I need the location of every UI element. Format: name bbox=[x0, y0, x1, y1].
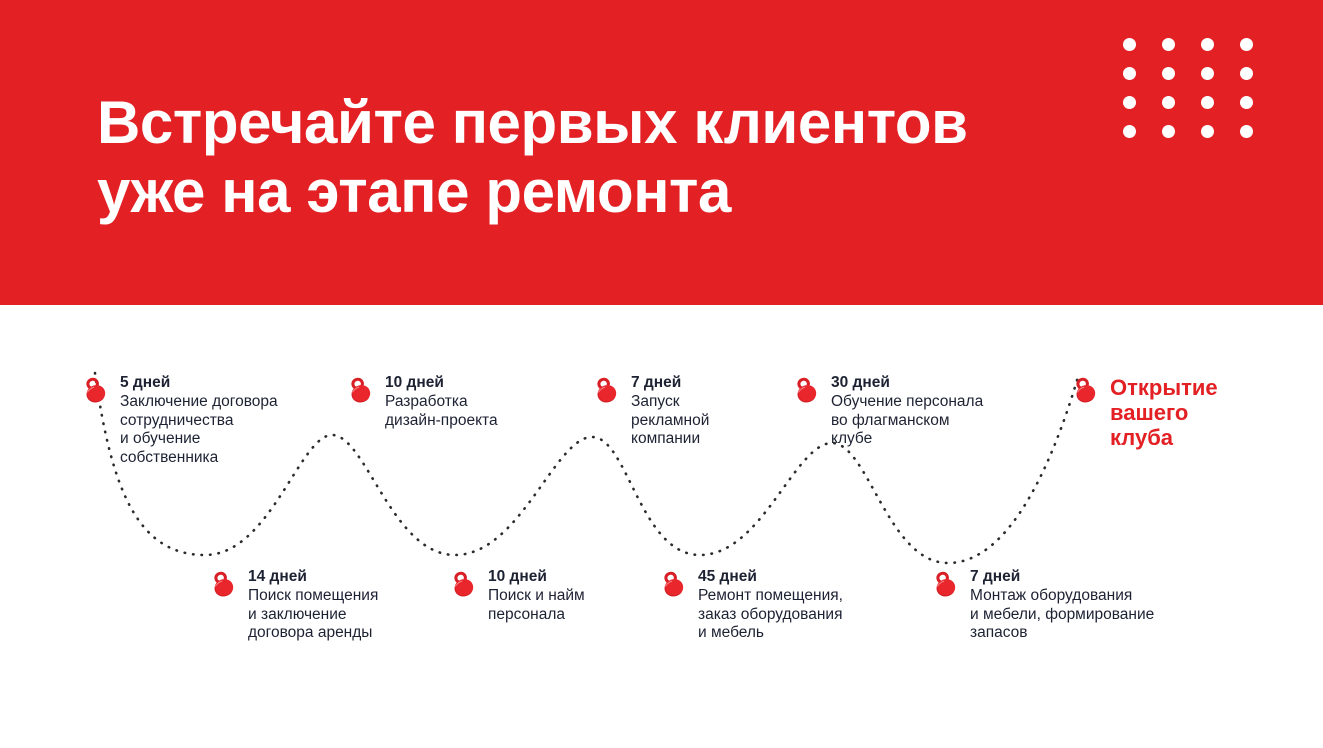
kettlebell-icon bbox=[1068, 373, 1101, 406]
kettlebell-icon bbox=[206, 567, 239, 600]
kettlebell-icon bbox=[343, 373, 376, 406]
timeline-step-bottom-2[interactable]: 10 дней Поиск и найм персонала bbox=[446, 565, 585, 624]
grid-dot bbox=[1123, 125, 1136, 138]
step-text: Открытие вашего клуба bbox=[1110, 371, 1218, 450]
step-days: 5 дней bbox=[120, 373, 278, 392]
grid-dot bbox=[1162, 96, 1175, 109]
kettlebell-icon bbox=[789, 373, 822, 406]
step-text: 10 дней Поиск и найм персонала bbox=[488, 565, 585, 624]
step-description: Поиск и найм персонала bbox=[488, 587, 585, 624]
step-text: 10 дней Разработка дизайн-проекта bbox=[385, 371, 498, 430]
grid-dot bbox=[1123, 96, 1136, 109]
step-text: 5 дней Заключение договора сотрудничеств… bbox=[120, 371, 278, 467]
step-description: Разработка дизайн-проекта bbox=[385, 393, 498, 430]
grid-dot bbox=[1201, 67, 1214, 80]
step-days: 45 дней bbox=[698, 567, 843, 586]
grid-dot bbox=[1162, 67, 1175, 80]
timeline-step-final[interactable]: Открытие вашего клуба bbox=[1068, 371, 1218, 450]
kettlebell-icon bbox=[656, 567, 689, 600]
kettlebell-icon bbox=[78, 373, 111, 406]
grid-dot bbox=[1201, 125, 1214, 138]
timeline-step-bottom-4[interactable]: 7 дней Монтаж оборудования и мебели, фор… bbox=[928, 565, 1154, 643]
step-description: Ремонт помещения, заказ оборудования и м… bbox=[698, 587, 843, 643]
step-description: Открытие вашего клуба bbox=[1110, 373, 1218, 450]
grid-dot bbox=[1123, 67, 1136, 80]
kettlebell-icon bbox=[589, 373, 622, 406]
timeline-step-bottom-1[interactable]: 14 дней Поиск помещения и заключение дог… bbox=[206, 565, 378, 643]
grid-dot bbox=[1240, 67, 1253, 80]
page-title: Встречайте первых клиентов уже на этапе … bbox=[97, 88, 1057, 226]
step-days: 14 дней bbox=[248, 567, 378, 586]
hero-banner: Встречайте первых клиентов уже на этапе … bbox=[0, 0, 1323, 305]
timeline-step-top-3[interactable]: 7 дней Запуск рекламной компании bbox=[589, 371, 709, 449]
timeline-step-bottom-3[interactable]: 45 дней Ремонт помещения, заказ оборудов… bbox=[656, 565, 843, 643]
step-description: Монтаж оборудования и мебели, формирован… bbox=[970, 587, 1154, 643]
grid-dot bbox=[1162, 38, 1175, 51]
grid-dot bbox=[1240, 38, 1253, 51]
step-days: 10 дней bbox=[488, 567, 585, 586]
step-days: 10 дней bbox=[385, 373, 498, 392]
step-description: Поиск помещения и заключение договора ар… bbox=[248, 587, 378, 643]
step-text: 45 дней Ремонт помещения, заказ оборудов… bbox=[698, 565, 843, 643]
step-days: 7 дней bbox=[631, 373, 709, 392]
kettlebell-icon bbox=[928, 567, 961, 600]
dot-grid-icon bbox=[1123, 38, 1279, 154]
step-days: 30 дней bbox=[831, 373, 983, 392]
step-text: 30 дней Обучение персонала во флагманско… bbox=[831, 371, 983, 449]
step-description: Обучение персонала во флагманском клубе bbox=[831, 393, 983, 449]
step-description: Запуск рекламной компании bbox=[631, 393, 709, 449]
grid-dot bbox=[1162, 125, 1175, 138]
step-description: Заключение договора сотрудничества и обу… bbox=[120, 393, 278, 467]
grid-dot bbox=[1123, 38, 1136, 51]
timeline-step-top-4[interactable]: 30 дней Обучение персонала во флагманско… bbox=[789, 371, 983, 449]
timeline-step-top-1[interactable]: 5 дней Заключение договора сотрудничеств… bbox=[78, 371, 278, 467]
step-text: 14 дней Поиск помещения и заключение дог… bbox=[248, 565, 378, 643]
kettlebell-icon bbox=[446, 567, 479, 600]
grid-dot bbox=[1240, 96, 1253, 109]
step-days: 7 дней bbox=[970, 567, 1154, 586]
timeline-step-top-2[interactable]: 10 дней Разработка дизайн-проекта bbox=[343, 371, 498, 430]
grid-dot bbox=[1240, 125, 1253, 138]
step-text: 7 дней Монтаж оборудования и мебели, фор… bbox=[970, 565, 1154, 643]
timeline-section: 5 дней Заключение договора сотрудничеств… bbox=[0, 305, 1323, 748]
grid-dot bbox=[1201, 38, 1214, 51]
grid-dot bbox=[1201, 96, 1214, 109]
step-text: 7 дней Запуск рекламной компании bbox=[631, 371, 709, 449]
